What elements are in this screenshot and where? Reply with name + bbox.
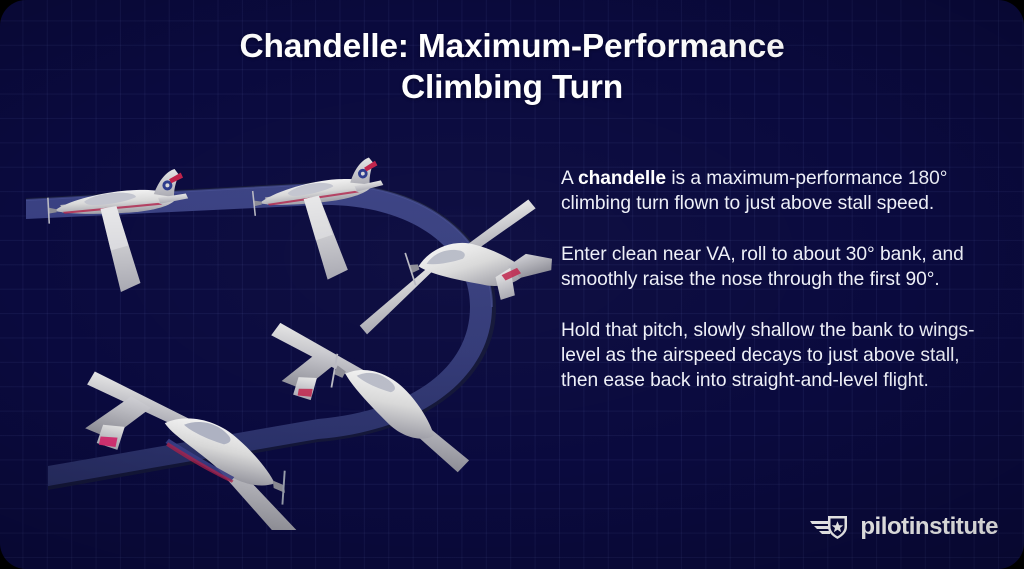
description-text-block: A chandelle is a maximum-performance 180…: [561, 166, 997, 394]
aircraft-rollout-wings-level: [62, 370, 329, 530]
flight-path-ribbon: [26, 182, 496, 490]
infographic-poster: Chandelle: Maximum-Performance Climbing …: [0, 0, 1024, 569]
aircraft-rolling-into-bank: [250, 156, 392, 286]
chandelle-illustration: [18, 140, 578, 530]
paragraph-definition: A chandelle is a maximum-performance 180…: [561, 166, 997, 217]
page-title: Chandelle: Maximum-Performance Climbing …: [0, 26, 1024, 108]
aircraft-high-bank-rollout: [253, 322, 487, 474]
brand-logo: pilotinstitute: [809, 512, 998, 541]
paragraph-1-lead: A: [561, 168, 578, 189]
paragraph-entry-procedure: Enter clean near VA, roll to about 30° b…: [561, 242, 997, 293]
brand-wordmark: pilotinstitute: [860, 515, 998, 539]
flight-path-surface: [26, 184, 492, 486]
aircraft-entry-wings-level: [47, 168, 193, 295]
winged-shield-star-icon: [809, 512, 851, 541]
term-chandelle: chandelle: [578, 168, 666, 189]
paragraph-rollout-procedure: Hold that pitch, slowly shallow the bank…: [561, 318, 997, 394]
